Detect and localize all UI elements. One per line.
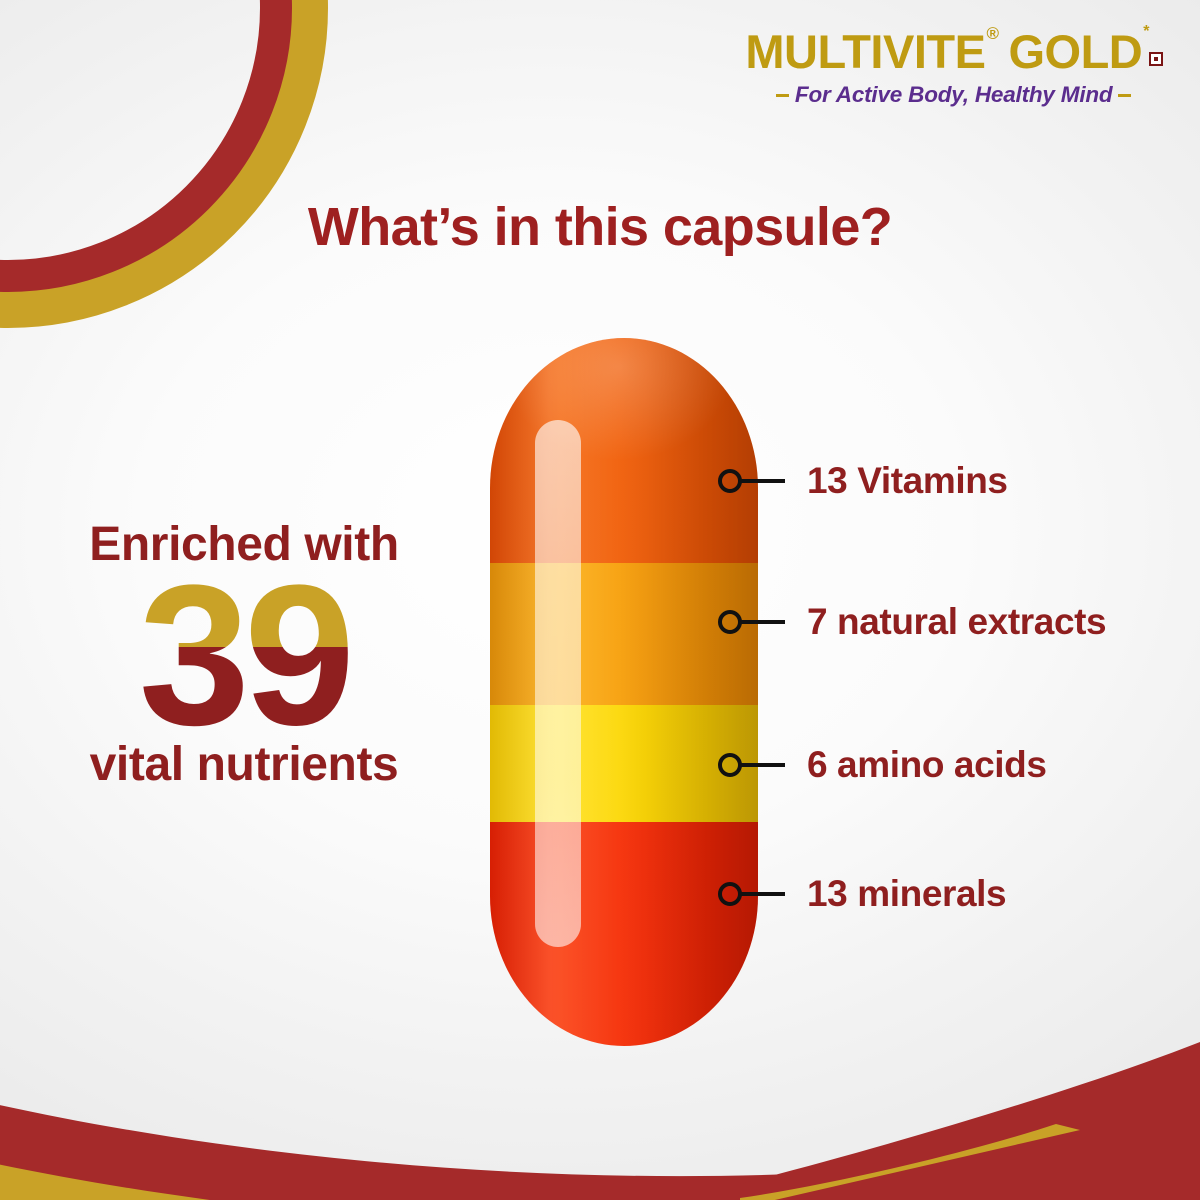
brand-logo: MULTIVITE ® GOLD * For Active Body, Heal… xyxy=(745,28,1162,108)
callout-label-minerals: 13 minerals xyxy=(807,873,1006,915)
callout-vitamins: 13 Vitamins xyxy=(718,461,1008,501)
logo-square-mark-icon xyxy=(1149,52,1163,66)
promo-line-bottom: vital nutrients xyxy=(0,740,488,790)
capsule-graphic xyxy=(490,338,758,1046)
callout-leader-line-icon xyxy=(741,763,785,767)
logo-word-gold: GOLD xyxy=(1008,28,1142,75)
callout-dot-icon xyxy=(718,882,742,906)
callout-amino-acids: 6 amino acids xyxy=(718,745,1047,785)
capsule-highlight-icon xyxy=(535,420,581,947)
promo-number: 39 xyxy=(0,564,488,748)
brand-tagline: For Active Body, Healthy Mind xyxy=(745,82,1162,108)
page-title: What’s in this capsule? xyxy=(0,196,1200,258)
asterisk-icon: * xyxy=(1143,24,1149,40)
logo-wordmark: MULTIVITE ® GOLD * xyxy=(745,28,1162,75)
callout-natural-extracts: 7 natural extracts xyxy=(718,602,1106,642)
callout-label-amino-acids: 6 amino acids xyxy=(807,744,1047,786)
dash-left-icon xyxy=(776,94,789,97)
callout-dot-icon xyxy=(718,469,742,493)
callout-label-vitamins: 13 Vitamins xyxy=(807,460,1008,502)
logo-word-multivite: MULTIVITE xyxy=(745,28,985,75)
corner-arc-top-left xyxy=(0,0,328,328)
corner-sweep-bottom-right xyxy=(740,998,1200,1200)
callout-minerals: 13 minerals xyxy=(718,874,1006,914)
callout-dot-icon xyxy=(718,610,742,634)
callout-leader-line-icon xyxy=(741,620,785,624)
callout-dot-icon xyxy=(718,753,742,777)
callout-leader-line-icon xyxy=(741,479,785,483)
capsule-band-minerals xyxy=(490,822,758,1046)
band-shade xyxy=(490,822,758,1046)
poster-canvas: MULTIVITE ® GOLD * For Active Body, Heal… xyxy=(0,0,1200,1200)
callout-leader-line-icon xyxy=(741,892,785,896)
registered-trademark-icon: ® xyxy=(986,25,998,42)
tagline-text: For Active Body, Healthy Mind xyxy=(795,82,1113,108)
callout-label-natural-extracts: 7 natural extracts xyxy=(807,601,1106,643)
promo-block: Enriched with 39 vital nutrients xyxy=(0,520,488,791)
dash-right-icon xyxy=(1118,94,1131,97)
